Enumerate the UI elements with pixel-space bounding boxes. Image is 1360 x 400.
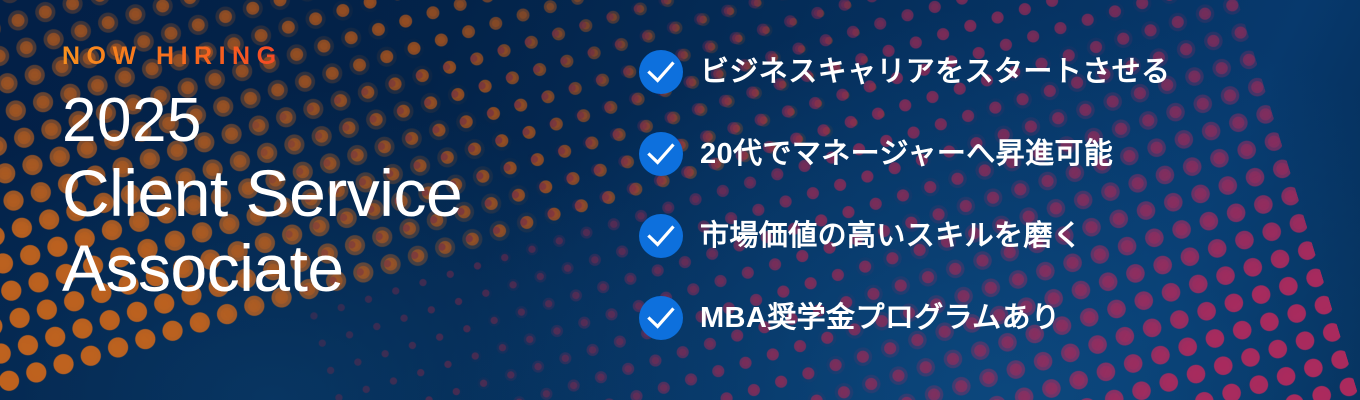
check-circle-icon: [639, 296, 683, 340]
benefit-label: MBA奨学金プログラムあり: [700, 304, 1060, 333]
benefit-label: 市場価値の高いスキルを磨く: [700, 222, 1082, 251]
banner-content: NOW HIRING 2025 Client Service Associate…: [0, 0, 1360, 400]
benefit-label: 20代でマネージャーへ昇進可能: [700, 140, 1113, 169]
benefits-list: ビジネスキャリアをスタートさせる 20代でマネージャーへ昇進可能 市場価値の高い…: [639, 50, 1339, 340]
job-title-line-2: Associate: [62, 231, 622, 306]
benefit-label: ビジネスキャリアをスタートさせる: [700, 58, 1170, 87]
benefit-item: 市場価値の高いスキルを磨く: [639, 214, 1339, 258]
benefit-item: 20代でマネージャーへ昇進可能: [639, 132, 1339, 176]
headline-block: NOW HIRING 2025 Client Service Associate: [62, 44, 622, 305]
hiring-banner: NOW HIRING 2025 Client Service Associate…: [0, 0, 1360, 400]
benefit-item: ビジネスキャリアをスタートさせる: [639, 50, 1339, 94]
eyebrow-now-hiring: NOW HIRING: [62, 44, 622, 69]
job-title-line-1: Client Service: [62, 156, 622, 231]
check-circle-icon: [639, 214, 683, 258]
check-circle-icon: [639, 132, 683, 176]
benefit-item: MBA奨学金プログラムあり: [639, 296, 1339, 340]
check-circle-icon: [639, 50, 683, 94]
year-label: 2025: [62, 89, 622, 152]
